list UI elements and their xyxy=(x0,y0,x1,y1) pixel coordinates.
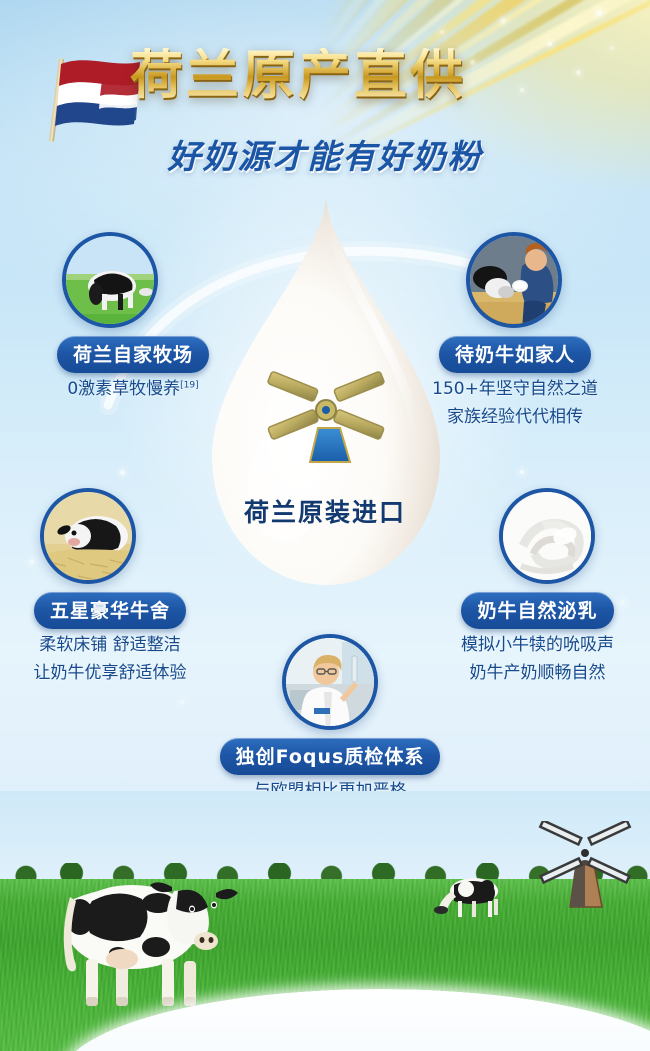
feature-badge: 五星豪华牛舍 xyxy=(34,592,186,629)
feature-desc-line-1: 150+年坚守自然之道 xyxy=(390,378,640,401)
page-subtitle: 好奶源才能有好奶粉 xyxy=(0,130,650,178)
header: 荷兰原产直供 好奶源才能有好奶粉 xyxy=(0,44,650,194)
grazing-cow-icon xyxy=(432,873,510,923)
feature-badge-row: 五星豪华牛舍 xyxy=(0,592,230,629)
landscape-footer xyxy=(0,791,650,1051)
cow-on-pasture-photo xyxy=(62,232,158,328)
feature-badge: 待奶牛如家人 xyxy=(439,336,591,373)
feature-desc-line-1: 模拟小牛犊的吮吸声 xyxy=(425,634,650,657)
feature-desc-line-2: 奶牛产奶顺畅自然 xyxy=(425,662,650,685)
feature-badge-row: 独创Foqus质检体系 xyxy=(205,738,455,775)
swirled-milk-photo xyxy=(499,488,595,584)
lab-technician-photo xyxy=(282,634,378,730)
feature-badge: 奶牛自然泌乳 xyxy=(461,592,613,629)
feature-desc-line-1: 柔软床铺 舒适整洁 xyxy=(0,634,230,657)
feature-desc-line: 0激素草牧慢养[19] xyxy=(8,378,258,401)
page-title: 荷兰原产直供 xyxy=(130,48,550,104)
feature-badge-row: 待奶牛如家人 xyxy=(390,336,640,373)
feature-badge: 荷兰自家牧场 xyxy=(57,336,209,373)
windmill-icon xyxy=(262,370,390,480)
feature-desc-line-2: 家族经验代代相传 xyxy=(390,406,640,429)
poster-root: 荷兰原产直供 好奶源才能有好奶粉 xyxy=(0,0,650,1051)
dutch-windmill-icon xyxy=(532,821,636,911)
feature-badge: 独创Foqus质检体系 xyxy=(220,738,441,775)
feature-badge-row: 荷兰自家牧场 xyxy=(8,336,258,373)
feature-cows-as-family[interactable]: 待奶牛如家人 150+年坚守自然之道 家族经验代代相传 xyxy=(390,232,640,429)
feature-five-star-barn[interactable]: 五星豪华牛舍 柔软床铺 舒适整洁 让奶牛优享舒适体验 xyxy=(0,488,230,685)
feature-desc-text: 0激素草牧慢养 xyxy=(67,379,180,399)
farmer-feeding-calf-photo xyxy=(466,232,562,328)
feature-desc-line-2: 让奶牛优享舒适体验 xyxy=(0,662,230,685)
feature-dutch-own-farm[interactable]: 荷兰自家牧场 0激素草牧慢养[19] xyxy=(8,232,258,401)
feature-superscript: [19] xyxy=(180,380,198,390)
droplet-label: 荷兰原装进口 xyxy=(190,493,460,529)
feature-badge-row: 奶牛自然泌乳 xyxy=(425,592,650,629)
cow-resting-in-barn-photo xyxy=(40,488,136,584)
holstein-cow-icon xyxy=(40,863,240,1013)
feature-natural-lactation[interactable]: 奶牛自然泌乳 模拟小牛犊的吮吸声 奶牛产奶顺畅自然 xyxy=(425,488,650,685)
